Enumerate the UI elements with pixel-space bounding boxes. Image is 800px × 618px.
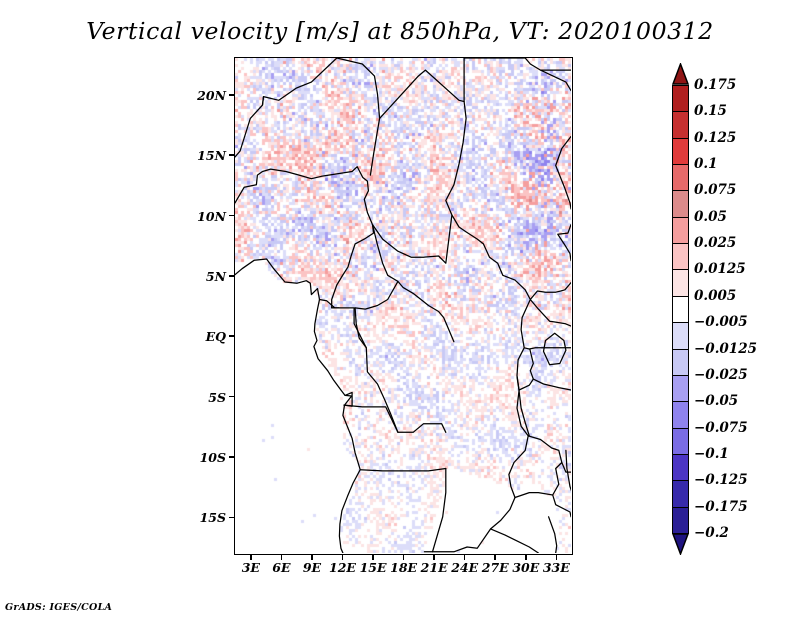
colorbar-cell <box>672 428 689 456</box>
colorbar-tick-label: 0.125 <box>694 132 736 146</box>
lat-tick-mark <box>229 396 234 398</box>
colorbar-cell <box>672 349 689 377</box>
colorbar-cell <box>672 85 689 113</box>
lat-tick-mark <box>229 456 234 458</box>
lat-tick-mark <box>229 215 234 217</box>
lat-tick-label: 5N <box>170 269 226 284</box>
colorbar-tick-label: 0.0125 <box>694 263 746 277</box>
lon-tick-mark <box>281 555 283 560</box>
colorbar-cell <box>672 401 689 429</box>
lon-tick-mark <box>525 555 527 560</box>
colorbar-tick-label: 0.1 <box>694 158 718 172</box>
lat-tick-mark <box>229 517 234 519</box>
colorbar-tick-label: 0.075 <box>694 184 736 198</box>
colorbar-top-arrow <box>672 63 689 85</box>
colorbar-tick-label: 0.05 <box>694 211 727 225</box>
map-plot-area <box>234 57 573 555</box>
lat-tick-label: 20N <box>170 88 226 103</box>
colorbar-tick-label: 0.15 <box>694 105 727 119</box>
lat-tick-label: 10S <box>170 450 226 465</box>
lat-tick-mark <box>229 154 234 156</box>
lon-tick-mark <box>494 555 496 560</box>
colorbar-tick-label: −0.175 <box>694 501 748 515</box>
lon-tick-mark <box>342 555 344 560</box>
lat-tick-label: 10N <box>170 209 226 224</box>
colorbar-tick-label: −0.025 <box>694 369 748 383</box>
colorbar-tick-label: −0.1 <box>694 448 729 462</box>
colorbar-cell <box>672 269 689 297</box>
page-title: Vertical velocity [m/s] at 850hPa, VT: 2… <box>0 17 800 45</box>
colorbar-tick-label: 0.175 <box>694 79 736 93</box>
lon-tick-label: 33E <box>536 560 576 575</box>
colorbar-cell <box>672 375 689 403</box>
lat-tick-label: 5S <box>170 390 226 405</box>
colorbar-cell <box>672 190 689 218</box>
lon-tick-mark <box>556 555 558 560</box>
lat-tick-mark <box>229 275 234 277</box>
colorbar <box>672 63 689 555</box>
colorbar-cell <box>672 243 689 271</box>
colorbar-bottom-arrow <box>672 533 689 555</box>
colorbar-tick-label: −0.0125 <box>694 343 757 357</box>
colorbar-tick-label: −0.005 <box>694 316 748 330</box>
lat-tick-mark <box>229 335 234 337</box>
colorbar-cell <box>672 454 689 482</box>
lon-tick-mark <box>311 555 313 560</box>
colorbar-tick-label: −0.125 <box>694 474 748 488</box>
colorbar-tick-label: −0.2 <box>694 527 729 541</box>
colorbar-cell <box>672 480 689 508</box>
colorbar-cell <box>672 322 689 350</box>
colorbar-cell <box>672 217 689 245</box>
colorbar-tick-label: 0.005 <box>694 290 736 304</box>
country-borders-overlay <box>235 58 571 553</box>
colorbar-tick-label: −0.075 <box>694 422 748 436</box>
lat-tick-label: 15N <box>170 148 226 163</box>
lat-tick-label: 15S <box>170 510 226 525</box>
grads-plot-page: Vertical velocity [m/s] at 850hPa, VT: 2… <box>0 0 800 618</box>
colorbar-cell <box>672 111 689 139</box>
colorbar-cell <box>672 164 689 192</box>
colorbar-tick-label: −0.05 <box>694 395 738 409</box>
colorbar-cell <box>672 507 689 535</box>
lon-tick-mark <box>464 555 466 560</box>
lon-tick-mark <box>403 555 405 560</box>
lon-tick-mark <box>250 555 252 560</box>
colorbar-tick-label: 0.025 <box>694 237 736 251</box>
lon-tick-mark <box>433 555 435 560</box>
colorbar-cell <box>672 296 689 324</box>
lat-tick-label: EQ <box>170 329 226 344</box>
colorbar-cell <box>672 138 689 166</box>
lat-tick-mark <box>229 94 234 96</box>
grads-credit: GrADS: IGES/COLA <box>5 602 112 613</box>
lon-tick-mark <box>372 555 374 560</box>
